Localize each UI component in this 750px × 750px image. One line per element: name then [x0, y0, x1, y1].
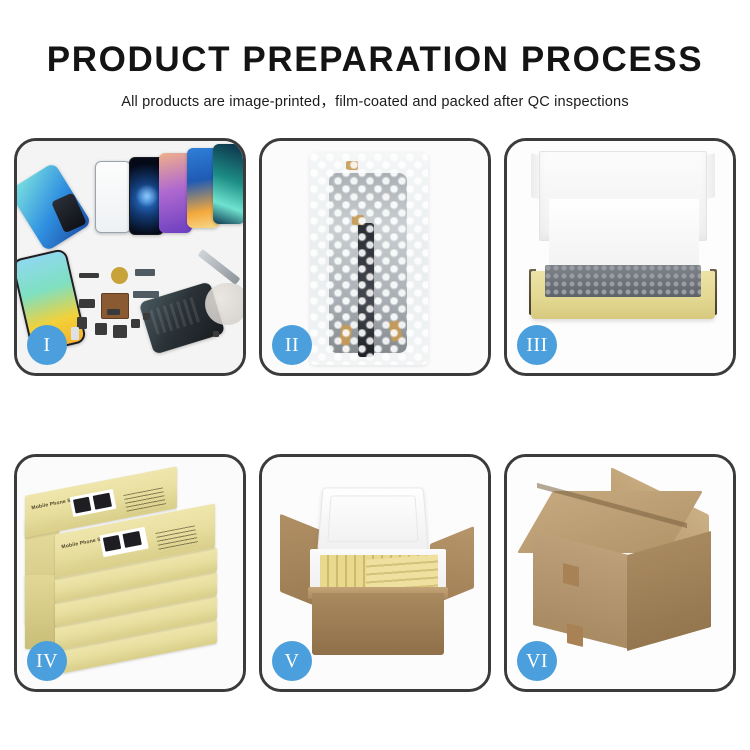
chip-array-component [101, 293, 129, 319]
process-step-panel-6[interactable]: VI [504, 454, 736, 692]
screw-1 [143, 313, 150, 320]
carton-tape-1 [563, 563, 579, 587]
small-ic-3 [95, 323, 107, 335]
small-ic-5 [131, 319, 140, 328]
small-ic-6 [107, 309, 120, 315]
page-subtitle: All products are image-printed，film-coat… [0, 90, 750, 111]
screw-2 [213, 331, 219, 337]
process-step-grid: I II [14, 138, 736, 692]
process-step-panel-4[interactable]: Mobile Phone Spare Parts Mobile Phone Sp… [14, 454, 246, 692]
box-window-screen-2b [122, 531, 141, 548]
ribbon-connector-2 [133, 291, 159, 298]
carton-front-wall [312, 593, 444, 655]
step-badge-6: VI [517, 641, 557, 681]
product-preparation-page: PRODUCT PREPARATION PROCESS All products… [0, 0, 750, 750]
bubble-wrap-bag [310, 153, 428, 365]
stack-box-back-2 [25, 575, 59, 649]
carton-tape-2 [567, 623, 583, 647]
box-window-screen-2a [103, 535, 121, 552]
step-badge-3: III [517, 325, 557, 365]
step-badge-1: I [27, 325, 67, 365]
process-step-panel-3[interactable]: III [504, 138, 736, 376]
ribbon-connector-1 [135, 269, 155, 276]
gray-foam-insert [545, 265, 701, 297]
step-badge-4: IV [27, 641, 67, 681]
small-connector [71, 327, 79, 340]
box-window-screen-1b [93, 493, 112, 510]
white-foam-sheet [549, 199, 699, 267]
page-header: PRODUCT PREPARATION PROCESS All products… [0, 0, 750, 111]
process-step-panel-1[interactable]: I [14, 138, 246, 376]
small-ic-4 [113, 325, 127, 338]
green-phone-screen [213, 144, 245, 224]
process-step-panel-5[interactable]: V [259, 454, 491, 692]
box-window-screen-1a [73, 497, 91, 514]
foam-box-lid [317, 488, 429, 552]
page-title: PRODUCT PREPARATION PROCESS [0, 42, 750, 79]
glass-panel-screen [95, 161, 131, 233]
hand [205, 283, 246, 325]
step-badge-2: II [272, 325, 312, 365]
step-badge-5: V [272, 641, 312, 681]
process-step-panel-2[interactable]: II [259, 138, 491, 376]
gold-coil-component [111, 267, 128, 284]
black-bar-component [79, 273, 99, 278]
box-stack: Mobile Phone Spare Parts Mobile Phone Sp… [23, 475, 237, 671]
small-ic-1 [79, 299, 95, 308]
bubble-texture [310, 153, 428, 365]
